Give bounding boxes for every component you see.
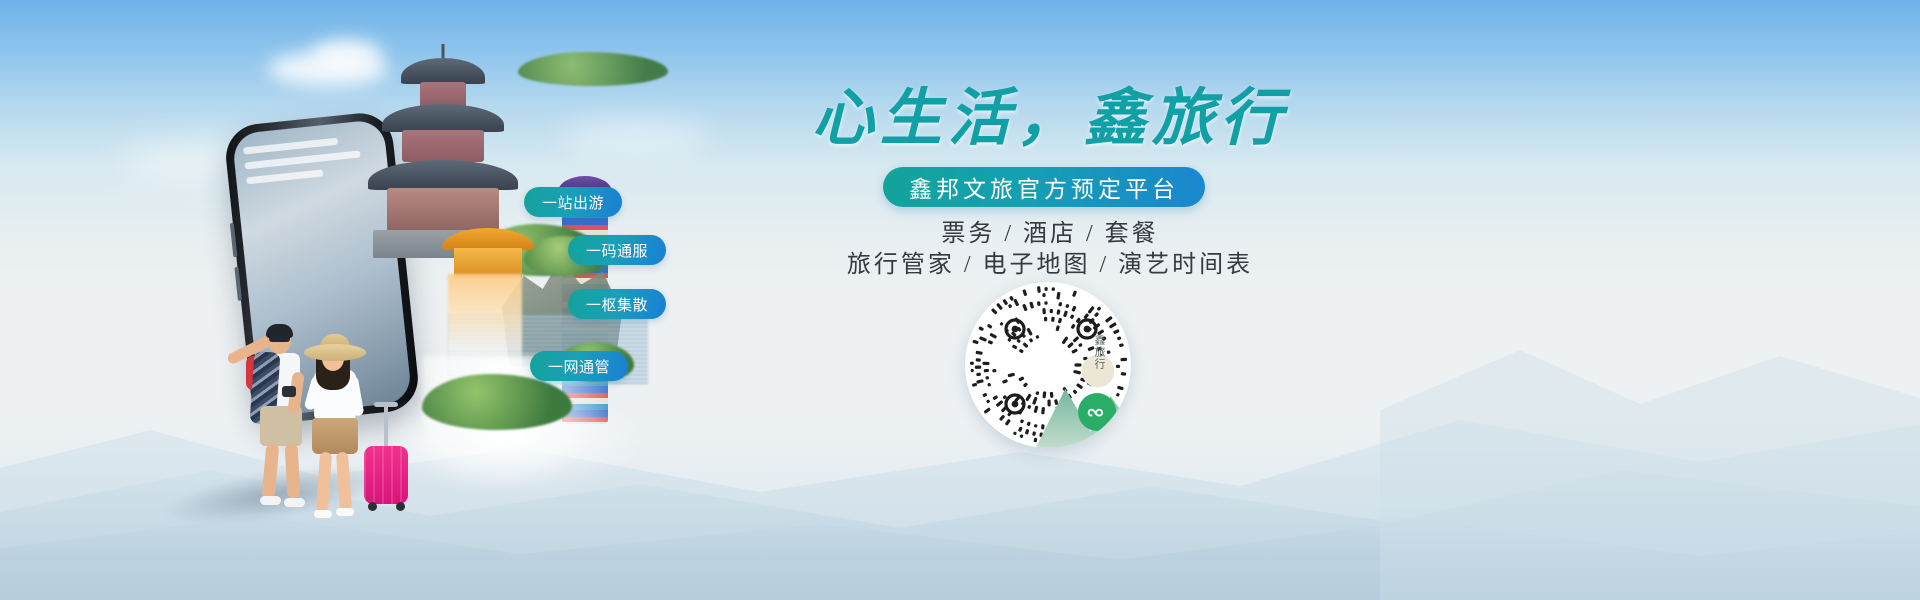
feature-pill-label: 一码通服 — [586, 240, 648, 261]
platform-badge[interactable]: 鑫邦文旅官方预定平台 — [883, 167, 1205, 207]
qr-brand-label: 鑫旅行 — [1091, 334, 1105, 370]
feature-pill-one-code-service[interactable]: 一码通服 — [568, 235, 666, 265]
feature-pill-one-stop-travel[interactable]: 一站出游 — [524, 187, 622, 217]
feature-pill-one-hub-transfer[interactable]: 一枢集散 — [568, 289, 666, 319]
feature-pill-label: 一网通管 — [548, 356, 610, 377]
feature-pill-one-net-management[interactable]: 一网通管 — [530, 351, 628, 381]
feature-pill-label: 一枢集散 — [586, 294, 648, 315]
service-list-line-1: 票务 / 酒店 / 套餐 — [810, 213, 1290, 248]
page-title: 心生活，鑫旅行 — [810, 88, 1290, 150]
banner-content: 心生活，鑫旅行 鑫邦文旅官方预定平台 票务 / 酒店 / 套餐 旅行管家 / 电… — [800, 0, 1480, 600]
qr-code[interactable]: 鑫旅行 — [965, 282, 1131, 448]
promo-banner: 一站出游 一码通服 一枢集散 一网通管 心生活，鑫旅行 鑫邦文旅官方预定平台 票… — [0, 0, 1920, 600]
feature-pill-label: 一站出游 — [542, 192, 604, 213]
wechat-miniprogram-icon — [1078, 393, 1116, 431]
platform-badge-label: 鑫邦文旅官方预定平台 — [909, 170, 1179, 204]
service-list-line-2: 旅行管家 / 电子地图 / 演艺时间表 — [810, 244, 1290, 279]
brand-logo-icon — [1015, 336, 1081, 392]
